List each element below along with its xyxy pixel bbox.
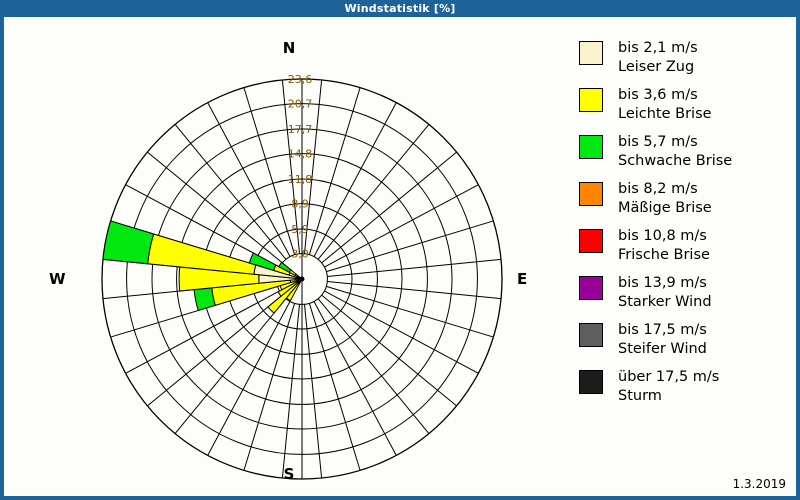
legend-item-label: bis 3,6 m/sLeichte Brise [618,86,712,124]
legend-item-label: bis 10,8 m/sFrische Brise [618,227,710,265]
window-title: Windstatistik [%] [344,2,455,15]
legend-beaufort-name: Mäßige Brise [618,199,712,218]
legend-color-swatch [579,135,603,159]
legend-item-label: bis 17,5 m/sSteifer Wind [618,321,707,359]
date-stamp: 1.3.2019 [733,477,786,491]
window-content: 3,05,98,911,814,817,720,723,6 N S W E bi… [3,16,797,497]
legend-beaufort-name: Leiser Zug [618,58,698,77]
legend-item: bis 10,8 m/sFrische Brise [579,227,794,265]
window-title-bar: Windstatistik [%] [0,0,800,16]
compass-label-south: S [4,465,574,483]
legend-item-label: bis 13,9 m/sStarker Wind [618,274,712,312]
windrose-svg: 3,05,98,911,814,817,720,723,6 [4,17,574,496]
grid-spoke [309,88,360,255]
legend-speed-range: bis 2,1 m/s [618,40,698,56]
legend-item: bis 5,7 m/sSchwache Brise [579,133,794,171]
legend-item-label: bis 8,2 m/sMäßige Brise [618,180,712,218]
legend-speed-range: bis 5,7 m/s [618,134,698,150]
grid-spoke [327,281,501,298]
legend-speed-range: bis 17,5 m/s [618,322,707,338]
legend-item: bis 2,1 m/sLeiser Zug [579,39,794,77]
grid-spoke [244,88,295,255]
legend-speed-range: über 17,5 m/s [618,369,719,385]
grid-spoke [327,259,501,276]
chart-center-point [300,277,305,282]
legend-color-swatch [579,41,603,65]
windrose-chart: 3,05,98,911,814,817,720,723,6 N S W E [4,17,574,496]
legend-item: bis 8,2 m/sMäßige Brise [579,180,794,218]
app-window: Windstatistik [%] 3,05,98,911,814,817,72… [0,0,800,500]
windrose-petal-segment [194,288,215,311]
compass-label-west: W [49,270,66,288]
legend-color-swatch [579,370,603,394]
radial-tick-label: 8,9 [291,198,309,211]
legend-speed-range: bis 3,6 m/s [618,87,698,103]
windrose-petal-segment [148,234,256,274]
legend-beaufort-name: Sturm [618,387,719,406]
legend: bis 2,1 m/sLeiser Zugbis 3,6 m/sLeichte … [579,39,794,415]
legend-item: bis 3,6 m/sLeichte Brise [579,86,794,124]
radial-tick-label: 14,8 [288,148,313,161]
grid-spoke [282,304,299,478]
radial-tick-label: 3,0 [291,248,309,261]
radial-tick-label: 11,8 [288,173,313,186]
legend-item-label: bis 2,1 m/sLeiser Zug [618,39,698,77]
grid-spoke [304,304,321,478]
radial-tick-label: 23,6 [288,73,313,86]
legend-color-swatch [579,229,603,253]
legend-item: bis 13,9 m/sStarker Wind [579,274,794,312]
legend-speed-range: bis 13,9 m/s [618,275,707,291]
legend-beaufort-name: Frische Brise [618,246,710,265]
legend-item-label: über 17,5 m/sSturm [618,368,719,406]
windrose-petal-segment [103,221,154,264]
legend-beaufort-name: Steifer Wind [618,340,707,359]
legend-speed-range: bis 10,8 m/s [618,228,707,244]
legend-item: bis 17,5 m/sSteifer Wind [579,321,794,359]
grid-spoke [309,303,360,470]
windrose-petals [103,221,305,313]
legend-item-label: bis 5,7 m/sSchwache Brise [618,133,732,171]
grid-spoke [326,221,493,272]
compass-label-east: E [517,270,527,288]
radial-tick-label: 17,7 [288,123,313,136]
grid-spoke [244,303,295,470]
legend-color-swatch [579,182,603,206]
radial-tick-label: 20,7 [288,98,313,111]
legend-beaufort-name: Schwache Brise [618,152,732,171]
radial-tick-label: 5,9 [291,223,309,236]
legend-color-swatch [579,88,603,112]
compass-label-north: N [4,39,574,57]
legend-beaufort-name: Leichte Brise [618,105,712,124]
legend-item: über 17,5 m/sSturm [579,368,794,406]
grid-spoke [326,286,493,337]
legend-color-swatch [579,276,603,300]
legend-color-swatch [579,323,603,347]
legend-beaufort-name: Starker Wind [618,293,712,312]
legend-speed-range: bis 8,2 m/s [618,181,698,197]
